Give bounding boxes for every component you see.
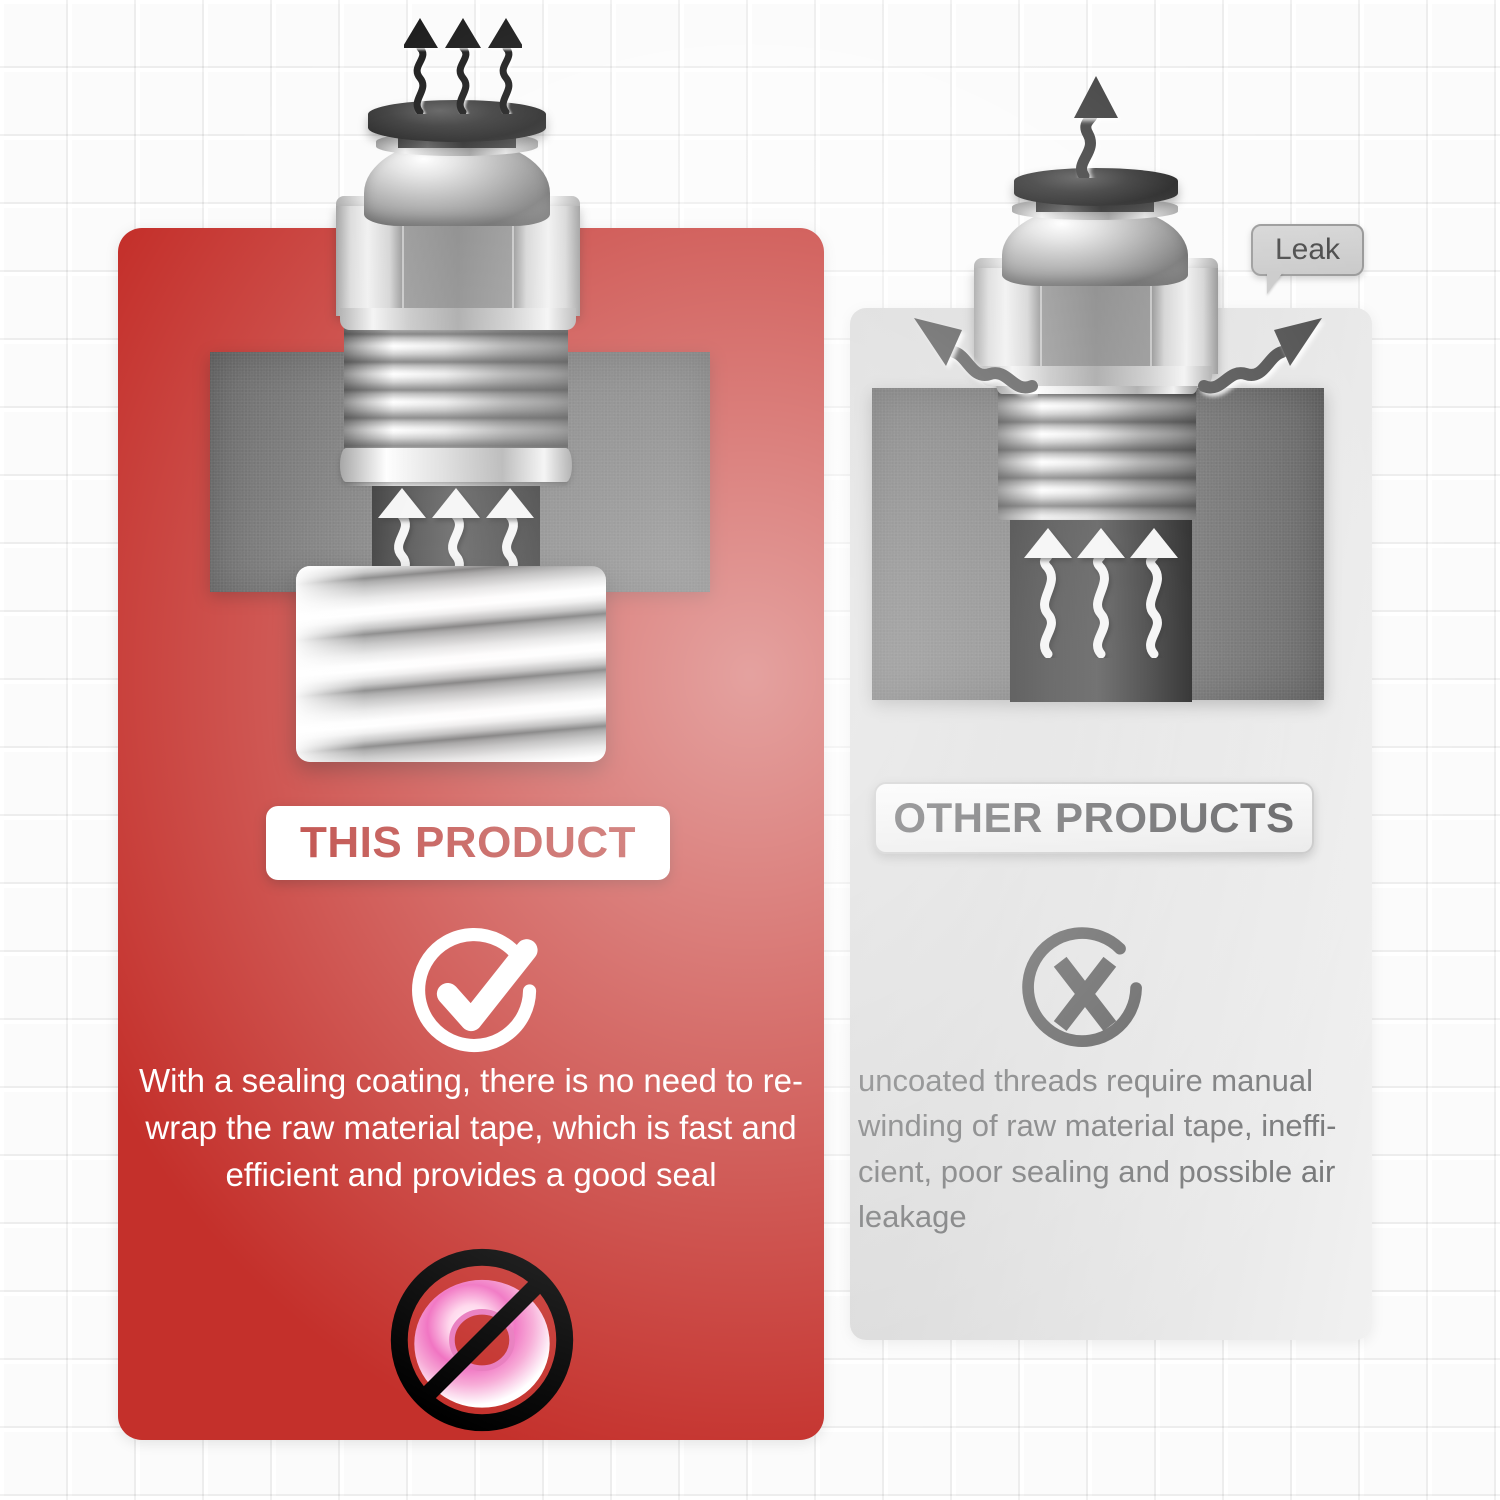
label-other-products: OTHER PRODUCTS	[874, 782, 1314, 854]
fitting-dome-left	[364, 140, 550, 226]
description-this-product: With a sealing coating, there is no need…	[126, 1058, 816, 1199]
push-cap-neck-right	[1036, 182, 1154, 212]
push-cap-left	[368, 100, 546, 142]
label-this-product: THIS PRODUCT	[266, 806, 670, 880]
leak-callout-bubble: Leak	[1251, 224, 1364, 276]
flow-arrows-top-left	[404, 14, 522, 114]
label-other-products-text: OTHER PRODUCTS	[893, 794, 1294, 842]
push-cap-right	[1014, 168, 1178, 206]
check-circle-icon	[404, 918, 550, 1064]
x-circle-icon	[1012, 918, 1158, 1064]
no-tape-prohibited-icon	[388, 1246, 576, 1434]
fitting-collar-left	[376, 132, 538, 156]
description-other-products: uncoated threads require manual winding …	[858, 1058, 1366, 1239]
hexnut-bevel-top-right	[974, 258, 1218, 274]
infographic-canvas: Leak THIS PRODUCT OTHER PRODUCTS With a …	[0, 0, 1500, 1500]
flow-arrow-top-right	[1062, 72, 1132, 178]
hexnut-bevel-top-left	[336, 196, 580, 214]
fitting-dome-right	[1002, 206, 1188, 286]
push-cap-neck-left	[398, 116, 516, 148]
label-this-product-text: THIS PRODUCT	[300, 818, 636, 868]
fitting-collar-right	[1012, 198, 1178, 220]
leak-callout-label: Leak	[1275, 233, 1340, 267]
